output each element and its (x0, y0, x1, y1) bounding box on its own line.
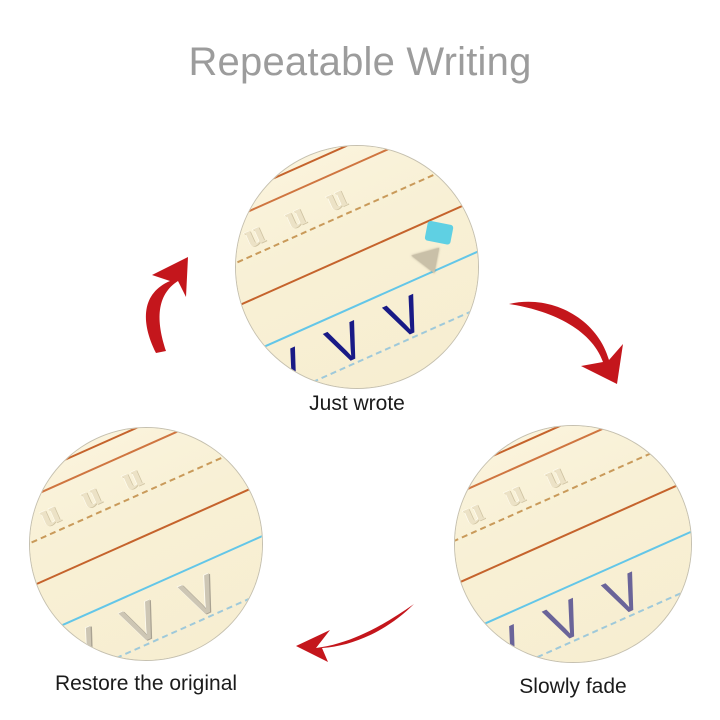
caption-slowly-fade: Slowly fade (453, 675, 693, 699)
letter-u-groove: u (280, 197, 311, 236)
letter-u-groove: u (34, 495, 65, 534)
letter-u-groove: u (75, 477, 106, 516)
pen-cap-icon (424, 220, 453, 245)
letter-v-fading-ink: V (539, 591, 592, 653)
page-title: Repeatable Writing (0, 40, 720, 85)
letter-u-groove: u (458, 494, 489, 533)
letter-v-groove: V (115, 593, 168, 655)
letter-v-fresh-ink: V (319, 313, 372, 375)
letter-row-u: u u u u u (455, 457, 571, 569)
caption-just-wrote: Just wrote (237, 392, 477, 416)
letter-row-u: u u u u u (30, 458, 147, 570)
pen-tip-icon (409, 243, 439, 273)
letter-u-groove: u (540, 457, 571, 496)
step-image-just-wrote: u u u u u V V V V (236, 146, 478, 388)
letter-u-groove: u (499, 476, 530, 515)
arrow-restore-the-original (292, 600, 418, 664)
step-image-restore-the-original: u u u u u V V V V 安 (30, 428, 262, 660)
arrow-slowly-fade (505, 288, 635, 388)
letter-v-fresh-ink: V (379, 287, 432, 349)
infographic-root: Repeatable Writing u u u u u (0, 0, 720, 720)
caption-restore-the-original: Restore the original (26, 672, 266, 696)
letter-u-groove: u (321, 179, 352, 218)
letter-u-groove: u (239, 215, 270, 254)
step-image-slowly-fade: u u u u u V V V V 安 (455, 426, 691, 662)
letter-v-groove: V (174, 566, 227, 628)
letter-v-fading-ink: V (598, 565, 651, 627)
arrow-just-wrote (122, 255, 220, 355)
letter-row-u: u u u u u (236, 179, 352, 291)
letter-u-groove: u (116, 458, 147, 497)
